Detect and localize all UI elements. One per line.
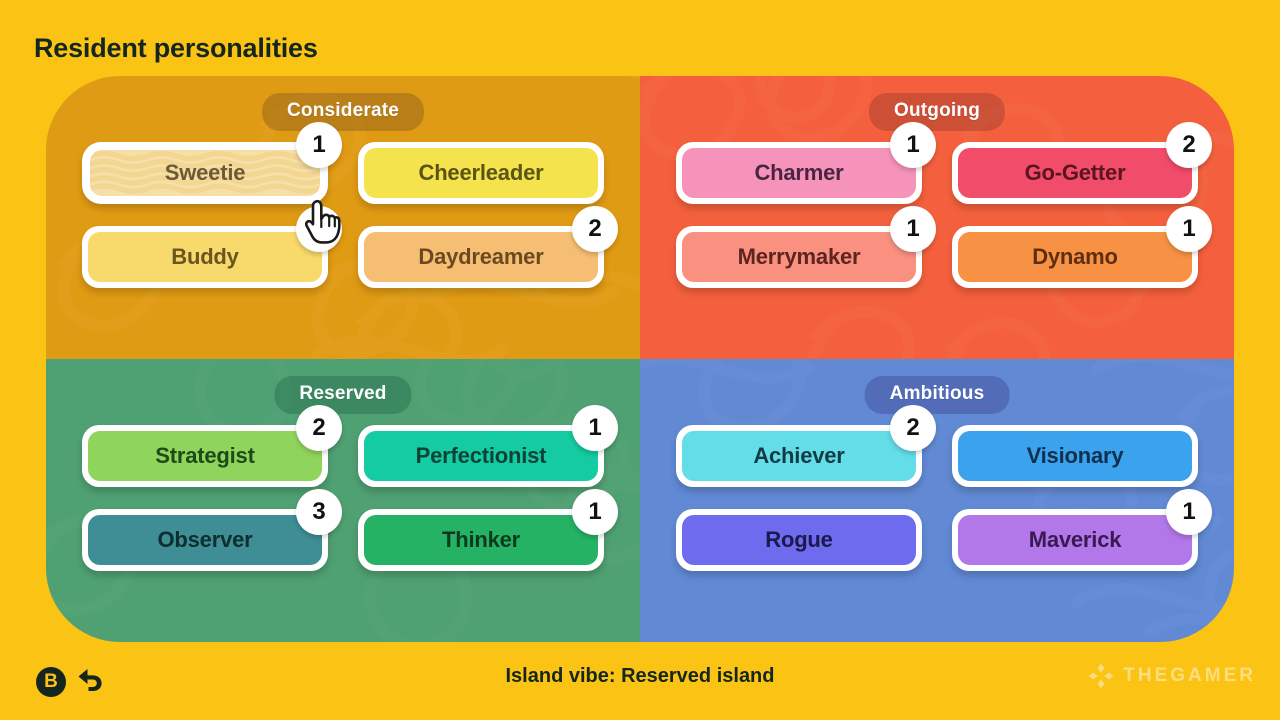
personality-card-thinker[interactable]: Thinker: [358, 509, 604, 571]
resident-count-badge: 1: [1166, 206, 1212, 252]
card-slot: Rogue: [676, 509, 922, 571]
card-face: Dynamo: [958, 232, 1192, 282]
card-slot: Go-Getter2: [952, 142, 1198, 204]
personality-card-grid: Charmer1Go-Getter2Merrymaker1Dynamo1: [640, 142, 1234, 288]
card-slot: Cheerleader: [358, 142, 604, 204]
personality-name: Cheerleader: [419, 160, 544, 186]
card-slot: Thinker1: [358, 509, 604, 571]
personality-name: Rogue: [765, 527, 832, 553]
personality-name: Strategist: [155, 443, 254, 469]
card-face: Merrymaker: [682, 232, 916, 282]
personality-name: Merrymaker: [738, 244, 861, 270]
personality-card-perfectionist[interactable]: Perfectionist: [358, 425, 604, 487]
card-slot: Daydreamer2: [358, 226, 604, 288]
card-slot: Achiever2: [676, 425, 922, 487]
card-face: Strategist: [88, 431, 322, 481]
quadrant-considerate: ConsiderateSweetie1CheerleaderBuddy1Dayd…: [46, 76, 640, 359]
card-slot: Visionary: [952, 425, 1198, 487]
personality-card-cheerleader[interactable]: Cheerleader: [358, 142, 604, 204]
resident-count-badge: 1: [1166, 489, 1212, 535]
card-slot: Merrymaker1: [676, 226, 922, 288]
thegamer-watermark: THEGAMER: [1088, 663, 1256, 689]
quadrant-reserved: ReservedStrategist2Perfectionist1Observe…: [46, 359, 640, 642]
resident-count-badge: 2: [296, 405, 342, 451]
personality-card-grid: Achiever2VisionaryRogueMaverick1: [640, 425, 1234, 571]
card-slot: Charmer1: [676, 142, 922, 204]
card-face: Perfectionist: [364, 431, 598, 481]
card-face: Daydreamer: [364, 232, 598, 282]
personality-name: Visionary: [1027, 443, 1124, 469]
personality-name: Maverick: [1029, 527, 1122, 553]
resident-count-badge: 3: [296, 489, 342, 535]
personality-card-achiever[interactable]: Achiever: [676, 425, 922, 487]
personality-name: Observer: [157, 527, 252, 553]
category-pill-reserved: Reserved: [274, 376, 411, 414]
resident-count-badge: 1: [296, 206, 342, 252]
card-face: Rogue: [682, 515, 916, 565]
thegamer-logo-icon: [1088, 663, 1114, 689]
resident-count-badge: 1: [890, 206, 936, 252]
personality-card-observer[interactable]: Observer: [82, 509, 328, 571]
card-slot: Maverick1: [952, 509, 1198, 571]
personality-card-dynamo[interactable]: Dynamo: [952, 226, 1198, 288]
card-face: Achiever: [682, 431, 916, 481]
resident-count-badge: 1: [572, 489, 618, 535]
card-face: Visionary: [958, 431, 1192, 481]
personality-card-strategist[interactable]: Strategist: [82, 425, 328, 487]
card-slot: Strategist2: [82, 425, 328, 487]
card-face: Charmer: [682, 148, 916, 198]
personality-name: Achiever: [753, 443, 844, 469]
personality-card-charmer[interactable]: Charmer: [676, 142, 922, 204]
quadrant-ambitious: AmbitiousAchiever2VisionaryRogueMaverick…: [640, 359, 1234, 642]
resident-count-badge: 1: [296, 122, 342, 168]
personality-name: Thinker: [442, 527, 520, 553]
card-slot: Buddy1: [82, 226, 328, 288]
personality-name: Buddy: [171, 244, 238, 270]
card-slot: Perfectionist1: [358, 425, 604, 487]
personality-name: Sweetie: [165, 160, 246, 186]
card-face: Maverick: [958, 515, 1192, 565]
resident-count-badge: 2: [572, 206, 618, 252]
personality-card-buddy[interactable]: Buddy: [82, 226, 328, 288]
personality-panel: ConsiderateSweetie1CheerleaderBuddy1Dayd…: [46, 76, 1234, 642]
card-face: Cheerleader: [364, 148, 598, 198]
resident-count-badge: 1: [890, 122, 936, 168]
personality-name: Charmer: [754, 160, 843, 186]
personality-card-grid: Strategist2Perfectionist1Observer3Thinke…: [46, 425, 640, 571]
card-face: Go-Getter: [958, 148, 1192, 198]
personality-name: Perfectionist: [416, 443, 547, 469]
personality-name: Go-Getter: [1025, 160, 1126, 186]
personality-card-go-getter[interactable]: Go-Getter: [952, 142, 1198, 204]
card-face: Sweetie: [90, 150, 320, 196]
resident-count-badge: 1: [572, 405, 618, 451]
watermark-text: THEGAMER: [1123, 665, 1256, 687]
card-slot: Observer3: [82, 509, 328, 571]
card-face: Thinker: [364, 515, 598, 565]
page-title: Resident personalities: [34, 33, 318, 64]
personality-card-grid: Sweetie1CheerleaderBuddy1Daydreamer2: [46, 142, 640, 288]
personality-card-maverick[interactable]: Maverick: [952, 509, 1198, 571]
personality-card-merrymaker[interactable]: Merrymaker: [676, 226, 922, 288]
category-pill-ambitious: Ambitious: [865, 376, 1010, 414]
card-slot: Dynamo1: [952, 226, 1198, 288]
personality-card-daydreamer[interactable]: Daydreamer: [358, 226, 604, 288]
personality-name: Dynamo: [1032, 244, 1118, 270]
card-face: Observer: [88, 515, 322, 565]
personality-name: Daydreamer: [418, 244, 543, 270]
card-face: Buddy: [88, 232, 322, 282]
resident-count-badge: 2: [1166, 122, 1212, 168]
category-pill-outgoing: Outgoing: [869, 93, 1005, 131]
card-slot: Sweetie1: [82, 142, 328, 204]
personality-card-visionary[interactable]: Visionary: [952, 425, 1198, 487]
personality-card-rogue[interactable]: Rogue: [676, 509, 922, 571]
quadrant-outgoing: OutgoingCharmer1Go-Getter2Merrymaker1Dyn…: [640, 76, 1234, 359]
personality-card-sweetie[interactable]: Sweetie: [82, 142, 328, 204]
resident-count-badge: 2: [890, 405, 936, 451]
category-pill-considerate: Considerate: [262, 93, 424, 131]
